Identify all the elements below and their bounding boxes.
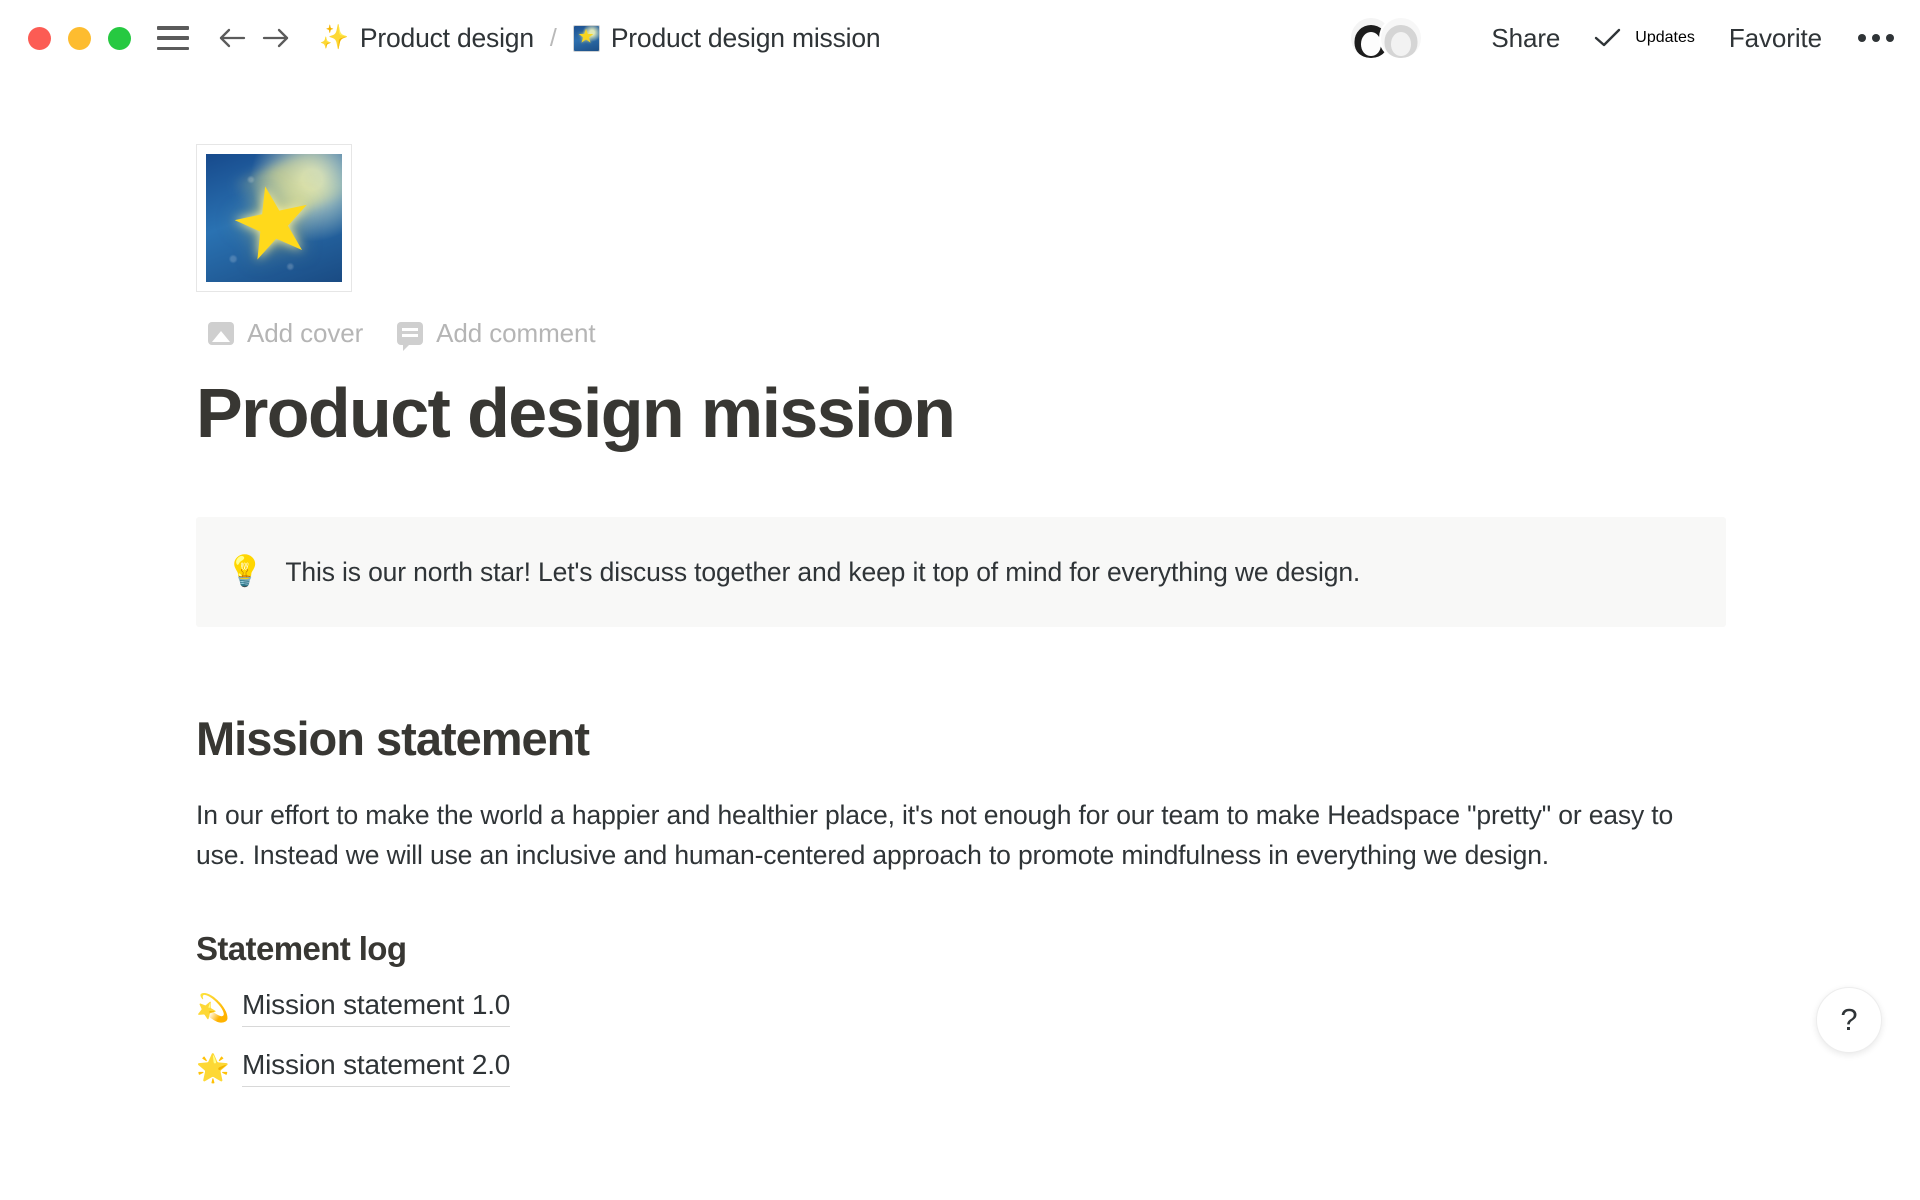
ellipsis-dot (1858, 34, 1866, 42)
help-button[interactable]: ? (1816, 987, 1882, 1053)
hamburger-line (157, 36, 189, 40)
avatar-face (1361, 32, 1381, 56)
page-link-label: Mission statement 2.0 (242, 1049, 510, 1087)
section-heading-statement-log[interactable]: Statement log (196, 931, 1726, 967)
comment-icon (397, 322, 423, 345)
ellipsis-dot (1872, 34, 1880, 42)
section-paragraph-mission-statement[interactable]: In our effort to make the world a happie… (196, 795, 1696, 876)
arrow-left-icon[interactable] (215, 21, 249, 55)
add-cover-button[interactable]: Add cover (208, 318, 363, 349)
avatar[interactable] (1379, 16, 1423, 60)
favorite-button[interactable]: Favorite (1729, 17, 1822, 60)
shooting-star-emoji-icon (206, 154, 342, 282)
ellipsis-icon[interactable] (1858, 34, 1894, 42)
arrow-right-icon[interactable] (259, 21, 293, 55)
callout-block[interactable]: 💡 This is our north star! Let's discuss … (196, 517, 1726, 627)
add-cover-label: Add cover (247, 318, 363, 349)
sparkles-icon: ✨ (319, 26, 349, 50)
page-link-mission-statement-1[interactable]: 💫 Mission statement 1.0 (196, 989, 510, 1027)
page-title[interactable]: Product design mission (196, 377, 1726, 451)
page-meta-actions: Add cover Add comment (208, 318, 1726, 349)
avatar-group[interactable] (1349, 16, 1423, 60)
maximize-button[interactable] (108, 27, 131, 50)
avatar-face (1391, 32, 1411, 56)
page-link-label: Mission statement 1.0 (242, 989, 510, 1027)
ellipsis-dot (1886, 34, 1894, 42)
image-icon (208, 322, 234, 345)
page-body: Add cover Add comment Product design mis… (0, 144, 1920, 1087)
updates-label: Updates (1635, 29, 1695, 47)
share-button[interactable]: Share (1491, 17, 1560, 60)
minimize-button[interactable] (68, 27, 91, 50)
updates-button[interactable]: Updates (1594, 27, 1695, 49)
breadcrumb-parent-label: Product design (360, 23, 534, 54)
hamburger-line (157, 26, 189, 30)
section-heading-mission-statement[interactable]: Mission statement (196, 713, 1726, 765)
add-comment-label: Add comment (436, 318, 595, 349)
lightbulb-icon: 💡 (226, 553, 263, 591)
breadcrumb-item-parent[interactable]: ✨ Product design (319, 23, 534, 54)
hamburger-icon[interactable] (157, 26, 189, 50)
page-link-mission-statement-2[interactable]: 🌟 Mission statement 2.0 (196, 1049, 510, 1087)
topbar-actions: Share Updates Favorite (1349, 16, 1894, 60)
page-content: Add cover Add comment Product design mis… (196, 144, 1726, 1087)
window-titlebar: ✨ Product design / Product design missio… (0, 0, 1920, 76)
glowing-star-icon: 🌟 (196, 1055, 228, 1082)
callout-text: This is our north star! Let's discuss to… (285, 553, 1360, 591)
close-button[interactable] (28, 27, 51, 50)
breadcrumb-separator: / (550, 24, 557, 53)
hamburger-line (157, 47, 189, 51)
breadcrumb-current-label: Product design mission (611, 23, 881, 54)
check-icon (1594, 27, 1622, 49)
breadcrumb-item-current[interactable]: Product design mission (573, 23, 881, 54)
dizzy-star-icon: 💫 (196, 995, 228, 1022)
add-comment-button[interactable]: Add comment (397, 318, 595, 349)
breadcrumb: ✨ Product design / Product design missio… (319, 23, 880, 54)
window-controls (28, 27, 131, 50)
page-icon[interactable] (196, 144, 352, 292)
shooting-star-icon (573, 25, 600, 52)
